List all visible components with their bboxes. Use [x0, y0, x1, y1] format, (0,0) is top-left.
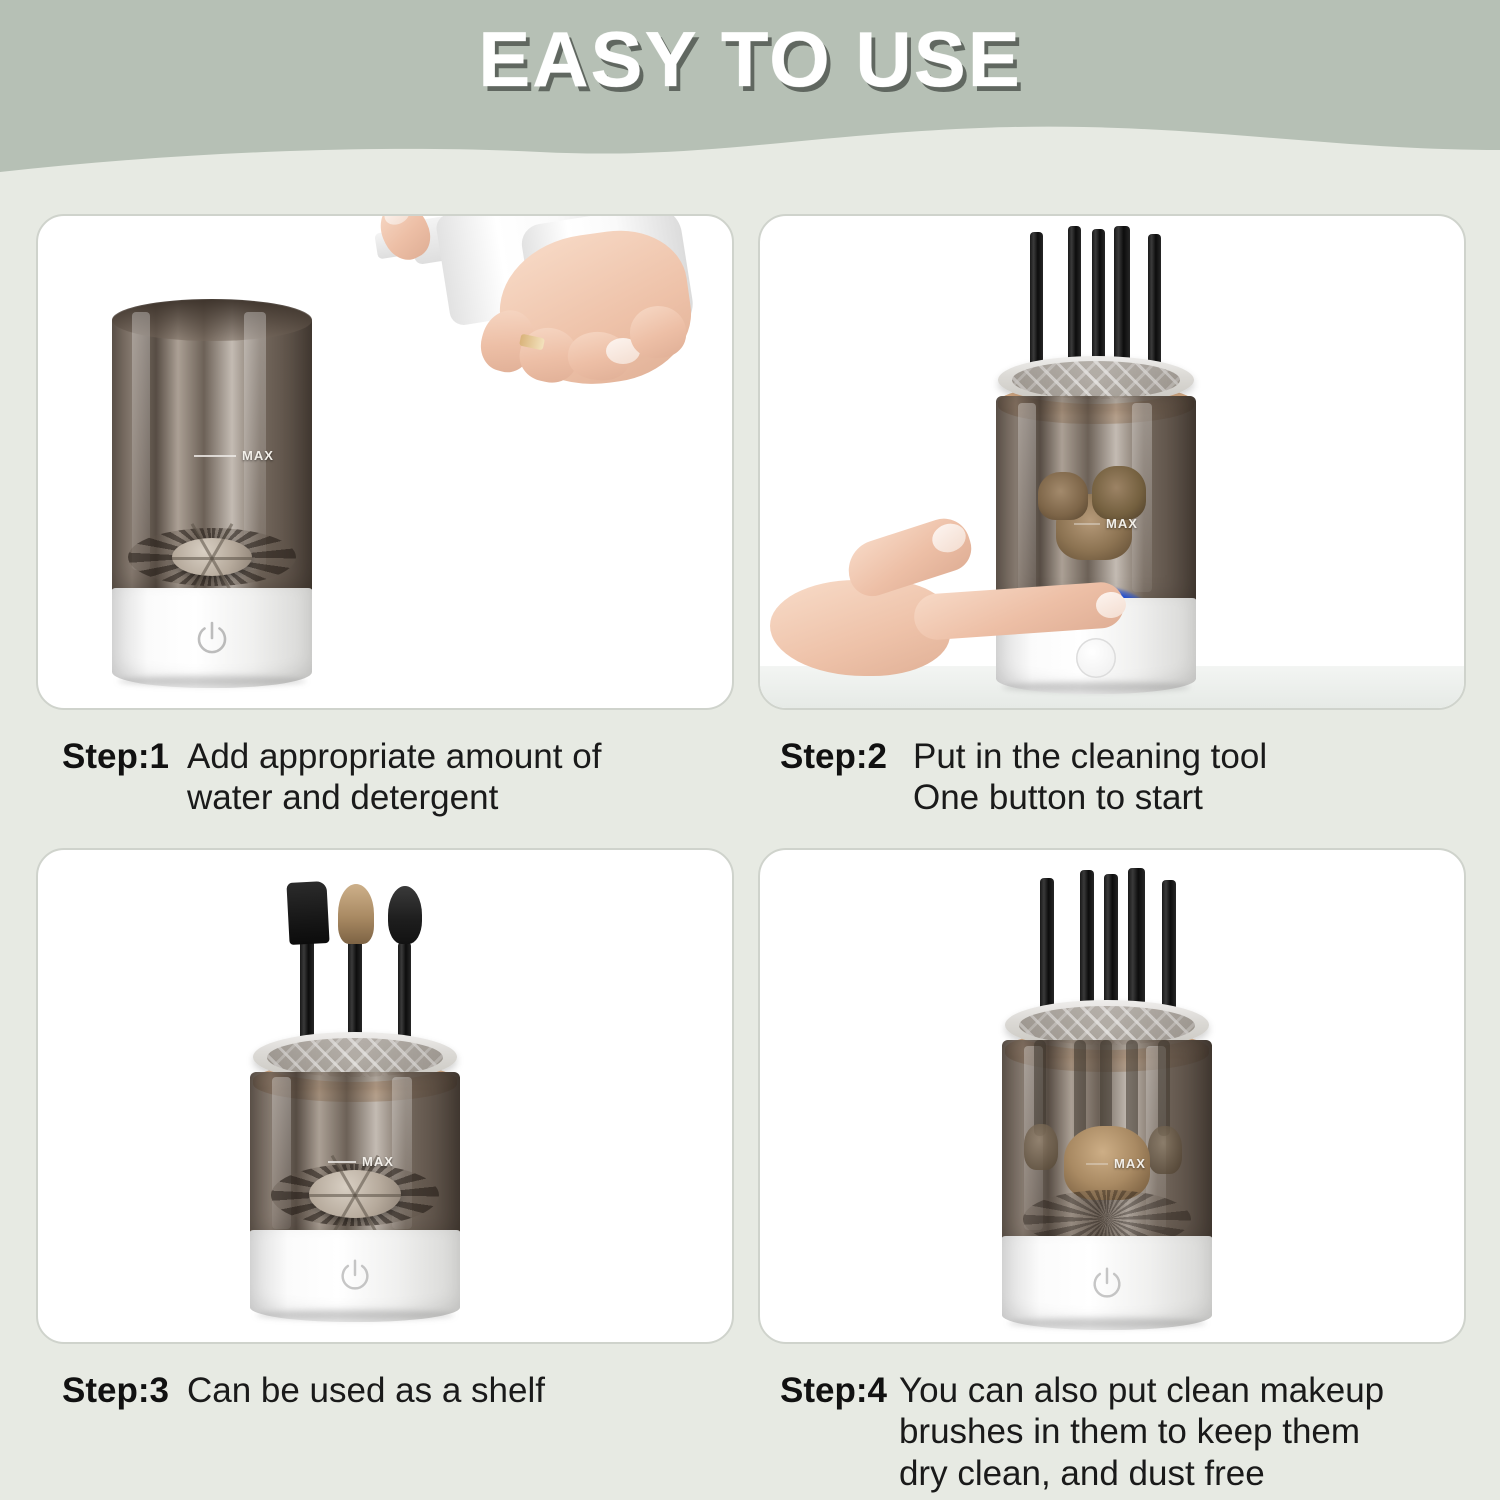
device-base: [250, 1230, 460, 1322]
sponge-applicator-tip: [388, 886, 422, 944]
step-4-label: Step:4: [780, 1370, 887, 1411]
impeller-wheel: [172, 538, 252, 576]
step-1-text: Add appropriate amount of water and dete…: [187, 736, 601, 819]
step-4-photo: MAX: [758, 848, 1466, 1344]
step-card-1: MAX: [36, 214, 730, 819]
max-level-marker: MAX: [194, 448, 274, 463]
impeller-wheel: [309, 1170, 401, 1218]
fingernail: [1095, 591, 1127, 619]
brush-bristles: [1024, 1124, 1058, 1170]
tank-highlight: [132, 312, 150, 570]
brush-bristles: [1148, 1126, 1182, 1174]
base-shadow: [256, 1310, 453, 1320]
brush-shaft-inside: [1158, 1040, 1170, 1136]
water-tank: MAX: [112, 300, 312, 600]
max-label: MAX: [1114, 1156, 1146, 1171]
water-tank: MAX: [250, 1072, 460, 1248]
step-3-caption: Step:3 Can be used as a shelf: [36, 1370, 730, 1411]
water-tank: MAX: [1002, 1040, 1212, 1254]
step-2-caption: Step:2 Put in the cleaning tool One butt…: [758, 736, 1462, 819]
max-level-marker: MAX: [1086, 1156, 1146, 1171]
step-1-photo: MAX: [36, 214, 734, 710]
max-label: MAX: [242, 448, 274, 463]
step-3-photo: MAX: [36, 848, 734, 1344]
brush-bristles: [1038, 472, 1088, 520]
device-step-4: MAX: [1002, 864, 1212, 1328]
brush-shaft-inside: [1034, 1040, 1046, 1136]
step-1-caption: Step:1 Add appropriate amount of water a…: [36, 736, 730, 819]
device-step-1: MAX: [112, 300, 312, 690]
device-step-3: MAX: [250, 870, 460, 1320]
steps-grid: MAX: [0, 200, 1500, 1500]
step-4-caption: Step:4 You can also put clean makeup bru…: [758, 1370, 1462, 1494]
hand-pressing-button: [810, 516, 1130, 676]
power-icon: [192, 618, 232, 658]
index-finger: [913, 581, 1126, 642]
step-4-text: You can also put clean makeup brushes in…: [899, 1370, 1384, 1494]
flat-brush-bristles: [286, 881, 329, 945]
hand-with-spray-bottle: [368, 214, 728, 460]
device-base: [112, 588, 312, 688]
power-icon: [336, 1256, 374, 1294]
brush-bristles: [1092, 466, 1146, 520]
step-2-label: Step:2: [780, 736, 887, 777]
page-title: EASY TO USE: [0, 14, 1500, 105]
step-card-4: MAX Step:4 You can also put clean makeup…: [758, 848, 1462, 1494]
base-shadow: [118, 676, 306, 686]
round-brush-bristles: [338, 884, 374, 944]
step-3-text: Can be used as a shelf: [187, 1370, 545, 1411]
header-band: EASY TO USE: [0, 0, 1500, 200]
base-shadow: [1008, 1318, 1205, 1328]
step-2-text: Put in the cleaning tool One button to s…: [913, 736, 1267, 819]
brush-shaft-inside: [1100, 1040, 1112, 1140]
max-label: MAX: [362, 1154, 394, 1169]
step-1-label: Step:1: [62, 736, 169, 777]
base-shadow: [1002, 682, 1190, 692]
max-level-marker: MAX: [328, 1154, 394, 1169]
power-icon: [1088, 1264, 1126, 1302]
step-card-3: MAX Step:3 Can be used as a shelf: [36, 848, 730, 1411]
step-3-label: Step:3: [62, 1370, 169, 1411]
brush-shaft-inside: [1074, 1040, 1086, 1144]
device-base: [1002, 1236, 1212, 1330]
step-2-photo: MAX: [758, 214, 1466, 710]
lid-lattice-pattern: [1012, 361, 1180, 399]
step-card-2: MAX Step:2 Put in the cleaning t: [758, 214, 1462, 819]
